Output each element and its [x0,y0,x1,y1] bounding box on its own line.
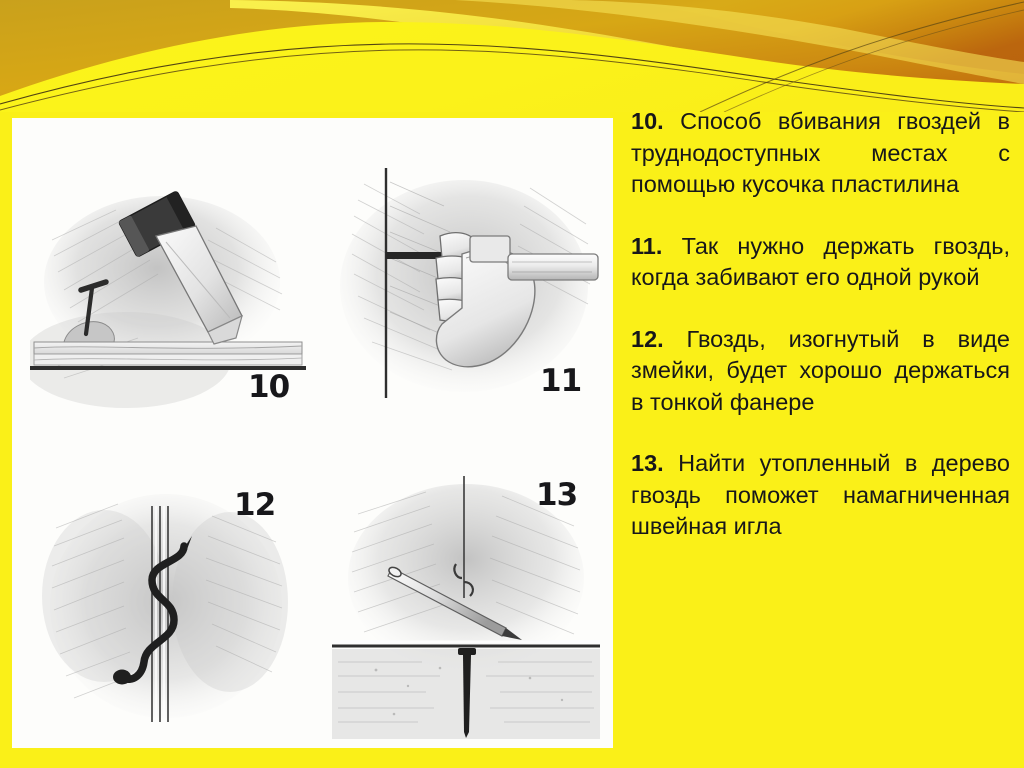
caption-number-11: 11. [631,233,662,259]
caption-text-11: Так нужно держать гвоздь, когда забивают… [631,233,1010,291]
decorative-wave-banner [0,0,1024,112]
caption-number-13: 13. [631,450,664,476]
caption-text-13: Найти утопленный в дерево гвоздь поможет… [631,450,1010,539]
caption-number-10: 10. [631,108,664,134]
illustration-number-12: 12 [234,490,275,521]
caption-text-10: Способ вбивания гвоздей в труднодоступны… [631,108,1010,197]
illustrations-panel: 10 [12,118,613,748]
caption-paragraph-10: 10. Способ вбивания гвоздей в труднодост… [631,106,1010,201]
slide-root: 10 [0,0,1024,768]
captions-text-column: 10. Способ вбивания гвоздей в труднодост… [631,106,1010,746]
illustration-number-10: 10 [248,372,289,403]
illustration-number-13: 13 [536,480,577,511]
caption-text-12: Гвоздь, изогнутый в виде змейки, будет х… [631,326,1010,415]
illustration-number-11: 11 [540,366,581,397]
caption-paragraph-12: 12. Гвоздь, изогнутый в виде змейки, буд… [631,324,1010,419]
caption-number-12: 12. [631,326,664,352]
caption-paragraph-11: 11. Так нужно держать гвоздь, когда заби… [631,231,1010,294]
caption-paragraph-13: 13. Найти утопленный в дерево гвоздь пом… [631,448,1010,543]
